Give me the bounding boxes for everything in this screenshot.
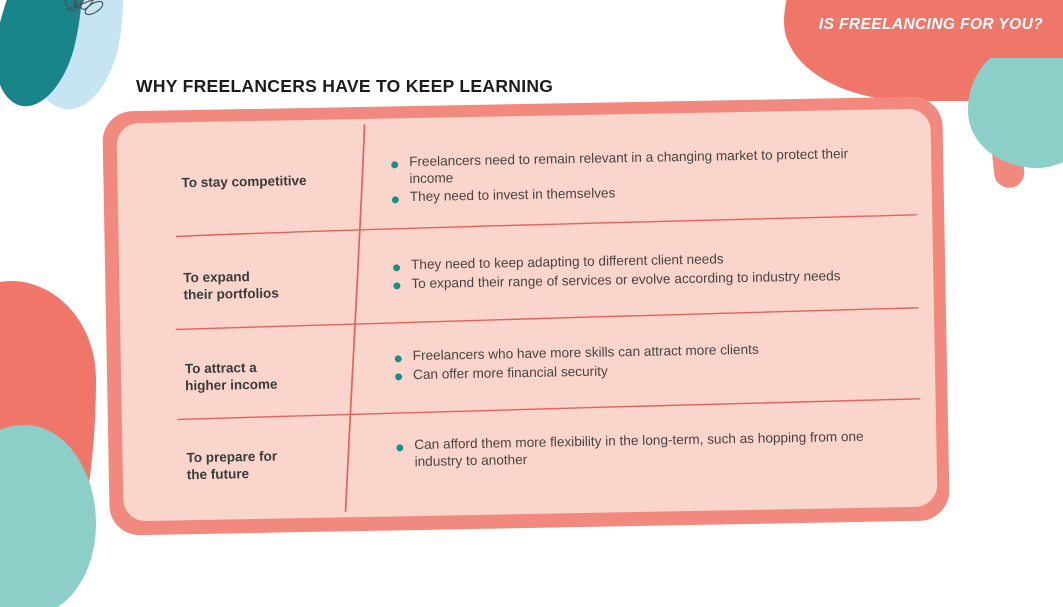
content-card: To stay competitive Freelancers need to … <box>102 96 950 535</box>
row-list: To stay competitive Freelancers need to … <box>116 109 937 522</box>
decor-blob-light-blue <box>17 0 138 117</box>
decor-blob-mint-top-right <box>968 42 1063 168</box>
row-bullets: Freelancers who have more skills can att… <box>371 339 936 387</box>
bullet-text: They need to invest in themselves <box>410 186 616 206</box>
bullet-dot-icon <box>395 374 402 381</box>
bullet-dot-icon <box>393 283 400 290</box>
decor-blob-coral-bottom-left <box>0 281 96 607</box>
decor-blob-mint-bottom-left <box>0 425 96 607</box>
bullet-dot-icon <box>391 161 398 168</box>
bullet-text: Can afford them more flexibility in the … <box>414 428 885 470</box>
card-body: To stay competitive Freelancers need to … <box>116 109 937 522</box>
row-bullets: Freelancers need to remain relevant in a… <box>367 145 932 209</box>
row-label: To prepare for the future <box>122 438 373 485</box>
bullet-dot-icon <box>395 355 402 362</box>
header-badge-label: IS FREELANCING FOR YOU? <box>819 16 1043 34</box>
decor-stripe-coral-top-right <box>984 77 1025 190</box>
table-row: To attract a higher income Freelancers w… <box>121 339 936 396</box>
header-badge: IS FREELANCING FOR YOU? <box>786 0 1063 58</box>
bullet-dot-icon <box>396 444 403 451</box>
table-row: To expand their portfolios They need to … <box>119 248 934 305</box>
decor-blob-teal <box>0 0 99 114</box>
page-title: WHY FREELANCERS HAVE TO KEEP LEARNING <box>136 76 553 97</box>
row-bullets: Can afford them more flexibility in the … <box>372 428 937 474</box>
row-label: To expand their portfolios <box>119 258 370 305</box>
slide-canvas: IS FREELANCING FOR YOU? WHY FREELANCERS … <box>0 0 1063 607</box>
flower-outline-icon <box>44 0 108 44</box>
row-bullets: They need to keep adapting to different … <box>369 248 934 296</box>
table-row: To prepare for the future Can afford the… <box>122 428 937 485</box>
bullet-dot-icon <box>392 196 399 203</box>
row-label: To stay competitive <box>117 155 368 193</box>
bullet-dot-icon <box>393 264 400 271</box>
table-row: To stay competitive Freelancers need to … <box>117 145 932 214</box>
row-label: To attract a higher income <box>121 349 372 396</box>
list-item: Can afford them more flexibility in the … <box>396 428 937 471</box>
bullet-text: Can offer more financial security <box>413 363 608 383</box>
